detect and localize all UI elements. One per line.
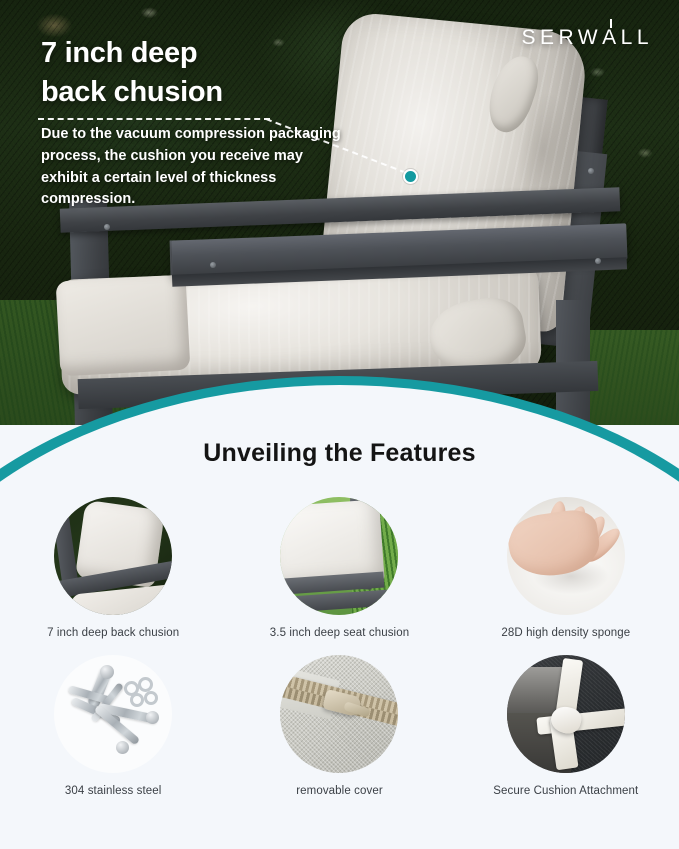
hero-body-text: Due to the vacuum compression packaging … — [41, 124, 351, 211]
callout-dot-marker — [403, 169, 418, 184]
product-infographic-page: 7 inch deep back chusion Due to the vacu… — [0, 0, 679, 849]
features-section: Unveiling the Features 7 inch deep back … — [0, 425, 679, 849]
brand-logo: SERWALL — [522, 26, 654, 50]
feature-caption: 3.5 inch deep seat chusion — [270, 627, 409, 639]
hero-section: 7 inch deep back chusion Due to the vacu… — [0, 0, 679, 425]
callout-line-horizontal — [38, 118, 270, 120]
feature-item-sponge[interactable]: 28D high density sponge — [453, 497, 679, 639]
screw-icon — [210, 262, 216, 268]
feature-item-removable-cover[interactable]: removable cover — [226, 655, 452, 797]
feature-caption: 28D high density sponge — [501, 627, 630, 639]
seat-cushion-left-edge — [56, 275, 191, 377]
feature-caption: removable cover — [296, 785, 383, 797]
hero-title: 7 inch deep back chusion — [41, 34, 371, 111]
feature-caption: 7 inch deep back chusion — [47, 627, 179, 639]
feature-image-sponge — [507, 497, 625, 615]
feature-item-seat-cushion[interactable]: 3.5 inch deep seat chusion — [226, 497, 452, 639]
feature-item-stainless-steel[interactable]: 304 stainless steel — [0, 655, 226, 797]
brand-logo-part-1: SERW — [522, 26, 603, 50]
screw-icon — [588, 168, 594, 174]
screw-icon — [104, 224, 110, 230]
feature-image-stainless-steel — [54, 655, 172, 773]
features-title: Unveiling the Features — [0, 439, 679, 468]
hero-title-line-2: back chusion — [41, 73, 371, 112]
feature-caption: Secure Cushion Attachment — [493, 785, 638, 797]
feature-item-cushion-attachment[interactable]: Secure Cushion Attachment — [453, 655, 679, 797]
screw-icon — [595, 258, 601, 264]
features-grid: 7 inch deep back chusion 3.5 inch deep s… — [0, 497, 679, 797]
feature-caption: 304 stainless steel — [65, 785, 162, 797]
feature-image-back-cushion — [54, 497, 172, 615]
feature-image-cushion-attachment — [507, 655, 625, 773]
feature-image-removable-cover — [280, 655, 398, 773]
feature-item-back-cushion[interactable]: 7 inch deep back chusion — [0, 497, 226, 639]
brand-logo-part-2: LL — [621, 26, 653, 50]
hero-title-line-1: 7 inch deep — [41, 34, 371, 73]
brand-logo-letter-a: A — [602, 26, 621, 50]
feature-image-seat-cushion — [280, 497, 398, 615]
